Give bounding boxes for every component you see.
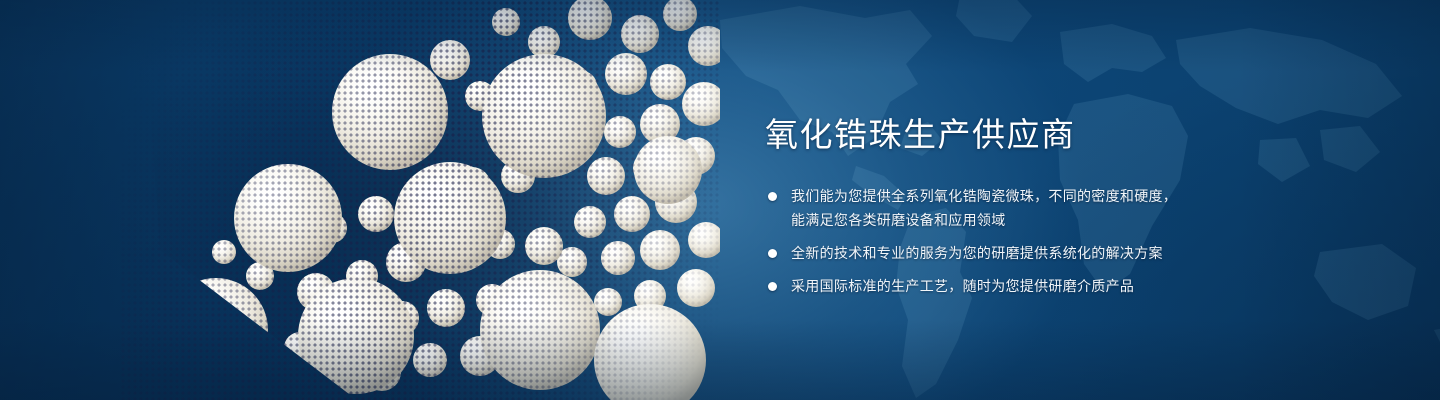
bullet-item-3: 采用国际标准的生产工艺，随时为您提供研磨介质产品 [765, 274, 1385, 298]
banner-headline: 氧化锆珠生产供应商 [765, 108, 1385, 156]
bullet-dot-icon [768, 249, 777, 258]
bullet-2-line-1: 全新的技术和专业的服务为您的研磨提供系统化的解决方案 [791, 241, 1385, 265]
banner-bullet-list: 我们能为您提供全系列氧化锆陶瓷微珠，不同的密度和硬度， 能满足您各类研磨设备和应… [765, 184, 1385, 298]
bullet-item-2: 全新的技术和专业的服务为您的研磨提供系统化的解决方案 [765, 241, 1385, 265]
banner-copy: 氧化锆珠生产供应商 我们能为您提供全系列氧化锆陶瓷微珠，不同的密度和硬度， 能满… [765, 108, 1385, 298]
bullet-dot-icon [768, 192, 777, 201]
bullet-1-line-1: 我们能为您提供全系列氧化锆陶瓷微珠，不同的密度和硬度， [791, 184, 1385, 208]
bullet-dot-icon [768, 282, 777, 291]
hero-banner: 氧化锆珠生产供应商 我们能为您提供全系列氧化锆陶瓷微珠，不同的密度和硬度， 能满… [0, 0, 1440, 400]
bullet-1-line-2: 能满足您各类研磨设备和应用领域 [791, 208, 1385, 232]
bullet-item-1: 我们能为您提供全系列氧化锆陶瓷微珠，不同的密度和硬度， 能满足您各类研磨设备和应… [765, 184, 1385, 232]
bullet-3-line-1: 采用国际标准的生产工艺，随时为您提供研磨介质产品 [791, 274, 1385, 298]
